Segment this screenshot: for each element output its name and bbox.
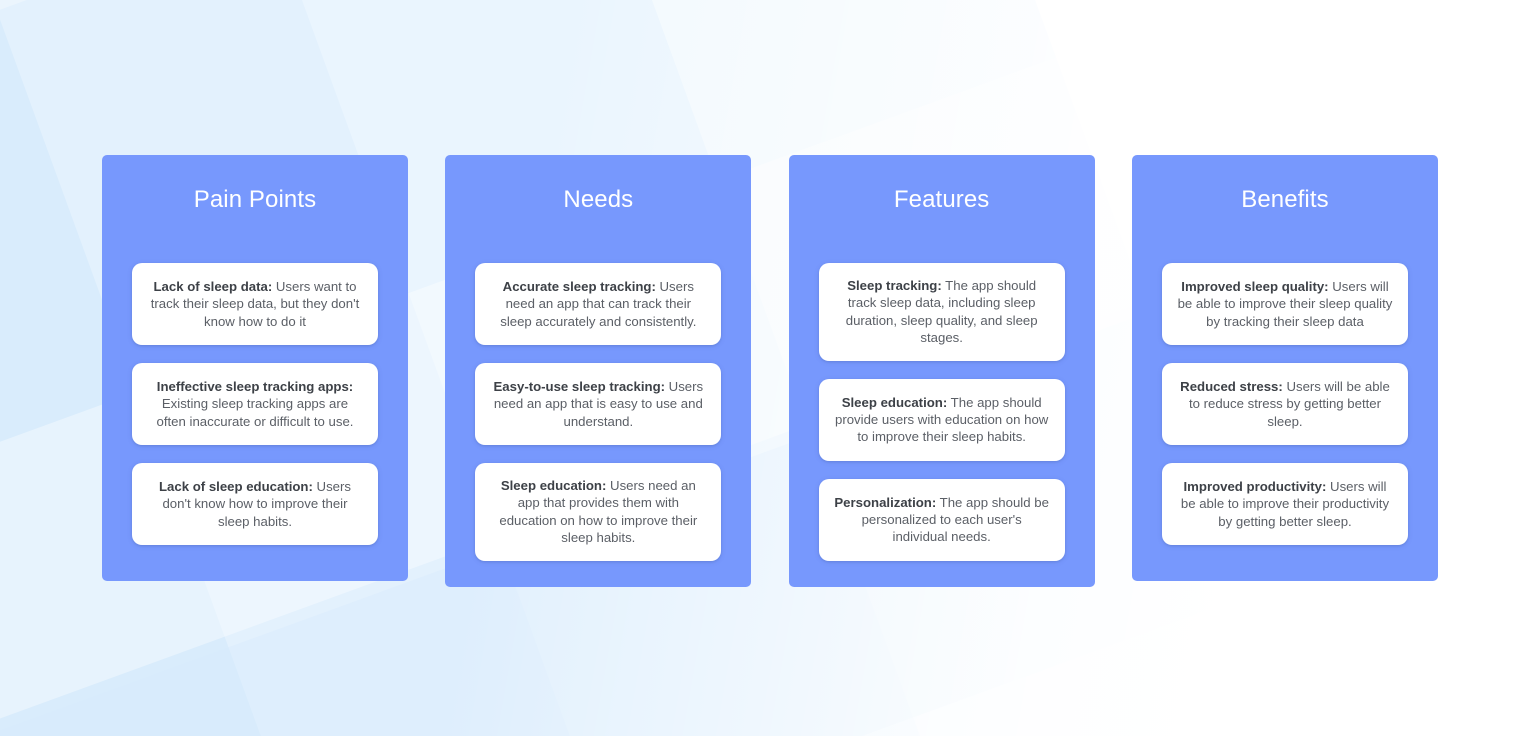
card-label: Ineffective sleep tracking apps:: [157, 379, 353, 394]
card[interactable]: Lack of sleep data: Users want to track …: [132, 263, 378, 345]
column-title: Pain Points: [194, 185, 317, 215]
card-text: Sleep education: Users need an app that …: [489, 477, 707, 547]
card-text: Improved sleep quality: Users will be ab…: [1176, 278, 1394, 330]
card-text: Improved productivity: Users will be abl…: [1176, 478, 1394, 530]
card[interactable]: Ineffective sleep tracking apps: Existin…: [132, 363, 378, 445]
card[interactable]: Easy-to-use sleep tracking: Users need a…: [475, 363, 721, 445]
card[interactable]: Personalization: The app should be perso…: [819, 479, 1065, 561]
card-label: Improved sleep quality:: [1181, 279, 1328, 294]
card-body: Existing sleep tracking apps are often i…: [157, 396, 354, 428]
card-text: Lack of sleep education: Users don't kno…: [146, 478, 364, 530]
card[interactable]: Improved sleep quality: Users will be ab…: [1162, 263, 1408, 345]
card-label: Easy-to-use sleep tracking:: [494, 379, 666, 394]
card-text: Sleep education: The app should provide …: [833, 394, 1051, 446]
card-label: Lack of sleep data:: [153, 279, 272, 294]
card-label: Sleep tracking:: [847, 278, 942, 293]
card-stack: Sleep tracking: The app should track sle…: [819, 263, 1065, 561]
card[interactable]: Sleep education: Users need an app that …: [475, 463, 721, 561]
card[interactable]: Reduced stress: Users will be able to re…: [1162, 363, 1408, 445]
card-text: Personalization: The app should be perso…: [833, 494, 1051, 546]
card[interactable]: Improved productivity: Users will be abl…: [1162, 463, 1408, 545]
card-label: Sleep education:: [842, 395, 948, 410]
card-text: Easy-to-use sleep tracking: Users need a…: [489, 378, 707, 430]
card-text: Sleep tracking: The app should track sle…: [833, 277, 1051, 347]
card[interactable]: Sleep tracking: The app should track sle…: [819, 263, 1065, 361]
column-benefits: Benefits Improved sleep quality: Users w…: [1132, 155, 1438, 581]
column-needs: Needs Accurate sleep tracking: Users nee…: [445, 155, 751, 587]
column-features: Features Sleep tracking: The app should …: [789, 155, 1095, 587]
card-stack: Lack of sleep data: Users want to track …: [132, 263, 378, 545]
card-label: Accurate sleep tracking:: [503, 279, 656, 294]
card-label: Sleep education:: [501, 478, 607, 493]
card-label: Personalization:: [834, 495, 936, 510]
card-text: Lack of sleep data: Users want to track …: [146, 278, 364, 330]
card[interactable]: Accurate sleep tracking: Users need an a…: [475, 263, 721, 345]
four-column-board: Pain Points Lack of sleep data: Users wa…: [102, 155, 1438, 581]
card-text: Accurate sleep tracking: Users need an a…: [489, 278, 707, 330]
column-title: Needs: [563, 185, 633, 215]
card-stack: Accurate sleep tracking: Users need an a…: [475, 263, 721, 561]
card-text: Ineffective sleep tracking apps: Existin…: [146, 378, 364, 430]
card-label: Reduced stress:: [1180, 379, 1283, 394]
card-label: Lack of sleep education:: [159, 479, 313, 494]
card-label: Improved productivity:: [1184, 479, 1327, 494]
card[interactable]: Sleep education: The app should provide …: [819, 379, 1065, 461]
column-title: Features: [894, 185, 990, 215]
card-text: Reduced stress: Users will be able to re…: [1176, 378, 1394, 430]
card[interactable]: Lack of sleep education: Users don't kno…: [132, 463, 378, 545]
card-stack: Improved sleep quality: Users will be ab…: [1162, 263, 1408, 545]
canvas: Pain Points Lack of sleep data: Users wa…: [0, 0, 1540, 736]
column-title: Benefits: [1241, 185, 1329, 215]
column-pain-points: Pain Points Lack of sleep data: Users wa…: [102, 155, 408, 581]
